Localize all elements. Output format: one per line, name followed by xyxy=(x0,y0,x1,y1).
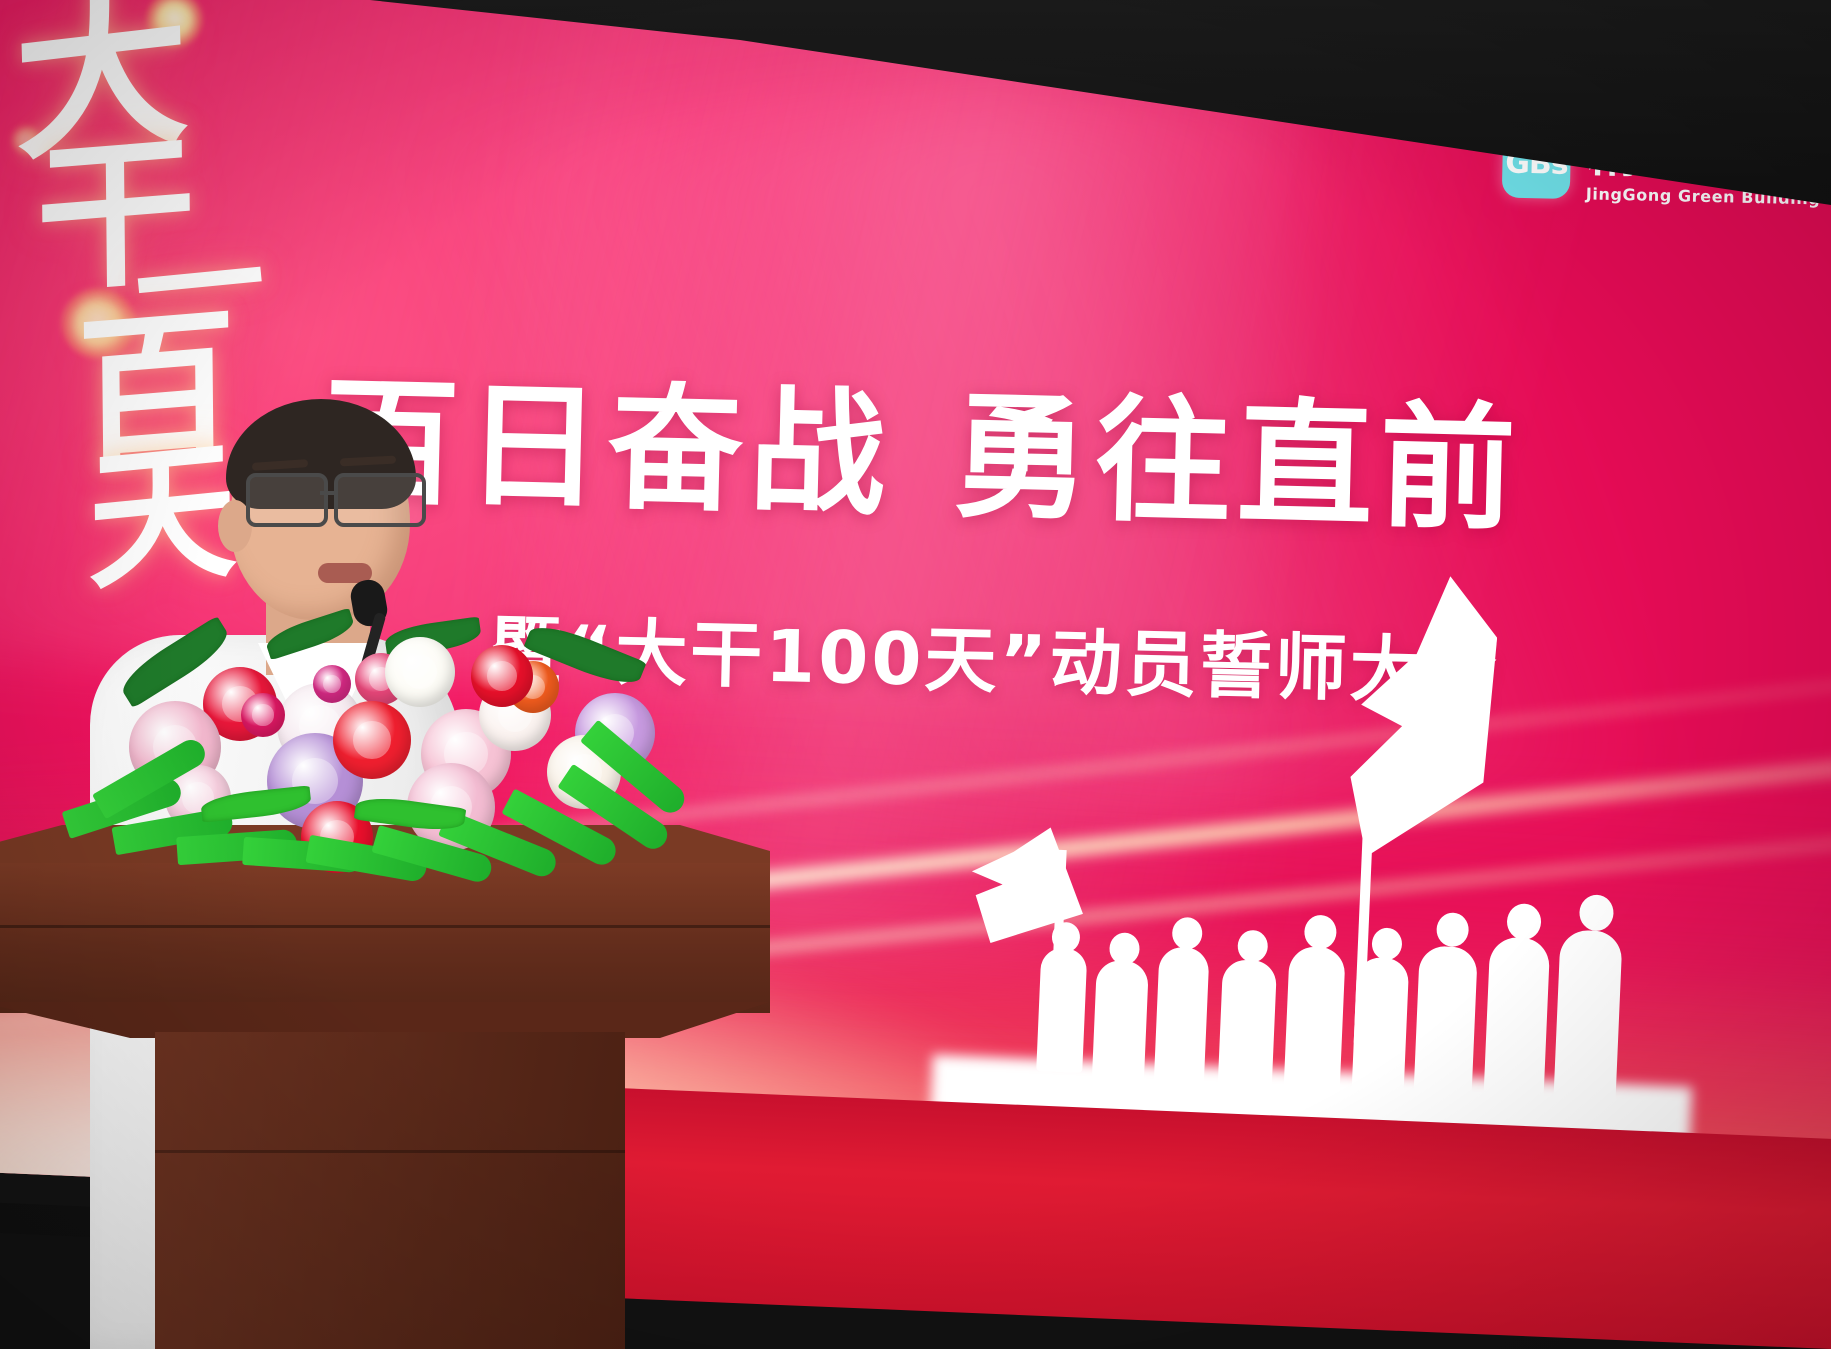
photo-canvas: 大 干 一 百 天 百日奋战勇往直前 暨“大干100天”动员誓师大会 GBs 精… xyxy=(0,0,1831,1349)
silhouette-group xyxy=(929,555,1713,1167)
crowd-figure-8-head xyxy=(1506,903,1542,940)
crowd-figure-2-head xyxy=(1109,932,1140,965)
eyeglass-lens-left xyxy=(246,473,328,527)
podium-column xyxy=(155,1032,625,1349)
flower-bloom xyxy=(333,701,411,779)
eyeglass-lens-right xyxy=(334,473,426,527)
flower-bloom xyxy=(241,693,285,737)
flower-bloom xyxy=(313,665,351,703)
flower-bloom xyxy=(385,637,455,707)
crowd-figure-6-head xyxy=(1371,927,1402,960)
crowd-figure-1-head xyxy=(1051,922,1080,953)
crowd-figure-3-head xyxy=(1172,917,1203,950)
crowd-figure-7-head xyxy=(1436,912,1469,947)
crowd-figure-4-head xyxy=(1237,930,1268,963)
flag-large-icon xyxy=(1296,570,1500,908)
foliage-leaf xyxy=(263,608,357,661)
banner-headline: 百日奋战勇往直前 xyxy=(322,374,1455,539)
crowd-figure-1 xyxy=(1036,947,1087,1073)
flower-arrangement xyxy=(55,605,655,905)
headline-gap xyxy=(890,502,952,503)
eyeglasses-icon xyxy=(246,473,418,519)
headline-right-text: 勇往直前 xyxy=(951,379,1523,550)
crowd-figure-5-head xyxy=(1304,914,1337,949)
crowd-figure-9-head xyxy=(1579,894,1615,931)
flower-bloom xyxy=(471,645,533,707)
